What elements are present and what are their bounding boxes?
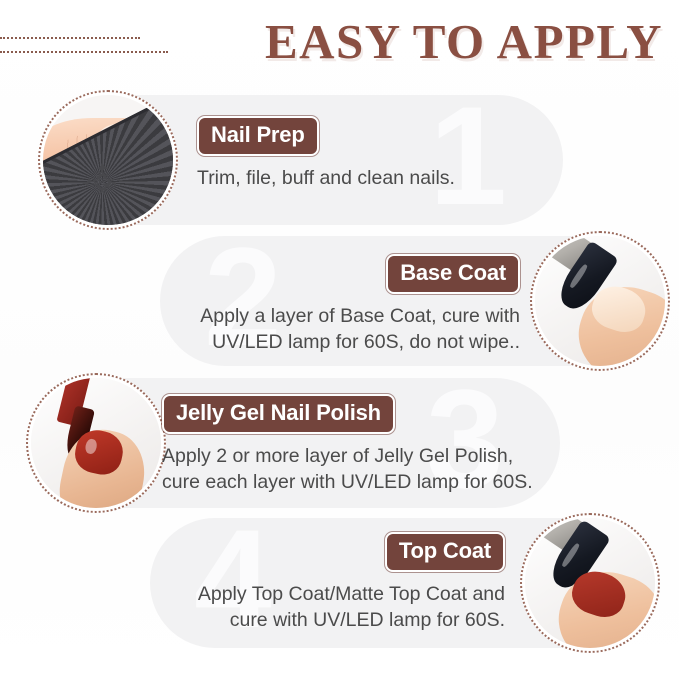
step-content-4: Top Coat Apply Top Coat/Matte Top Coat a… [160, 532, 505, 633]
top-coat-brush-photo [520, 513, 660, 653]
step-description-3: Apply 2 or more layer of Jelly Gel Polis… [162, 443, 562, 495]
step-content-1: Nail Prep Trim, file, buff and clean nai… [197, 116, 527, 191]
easy-to-apply-infographic: EASY TO APPLY 1 Nail Prep Trim, file, bu… [0, 0, 679, 679]
step-content-3: Jelly Gel Nail Polish Apply 2 or more la… [162, 394, 562, 495]
base-coat-brush-photo [530, 231, 670, 371]
dotted-rule-top [0, 37, 140, 39]
photo-inner-2 [535, 236, 665, 366]
page-title: EASY TO APPLY [265, 12, 663, 72]
step-description-1: Trim, file, buff and clean nails. [197, 165, 527, 191]
step-badge-base-coat[interactable]: Base Coat [386, 254, 520, 294]
step-badge-jelly-gel-nail-polish[interactable]: Jelly Gel Nail Polish [162, 394, 395, 434]
step-description-4: Apply Top Coat/Matte Top Coat and cure w… [160, 581, 505, 633]
header: EASY TO APPLY [0, 0, 679, 86]
step-content-2: Base Coat Apply a layer of Base Coat, cu… [168, 254, 520, 355]
photo-inner-3 [31, 378, 161, 508]
photo-inner-1 [43, 95, 173, 225]
jelly-gel-polish-brush-photo [26, 373, 166, 513]
photo-inner-4 [525, 518, 655, 648]
step-description-2: Apply a layer of Base Coat, cure with UV… [168, 303, 520, 355]
nail-file-shape [43, 95, 173, 225]
step-badge-top-coat[interactable]: Top Coat [385, 532, 505, 572]
nail-file-on-finger-photo [38, 90, 178, 230]
dotted-rule-bottom [0, 51, 168, 53]
step-badge-nail-prep[interactable]: Nail Prep [197, 116, 319, 156]
